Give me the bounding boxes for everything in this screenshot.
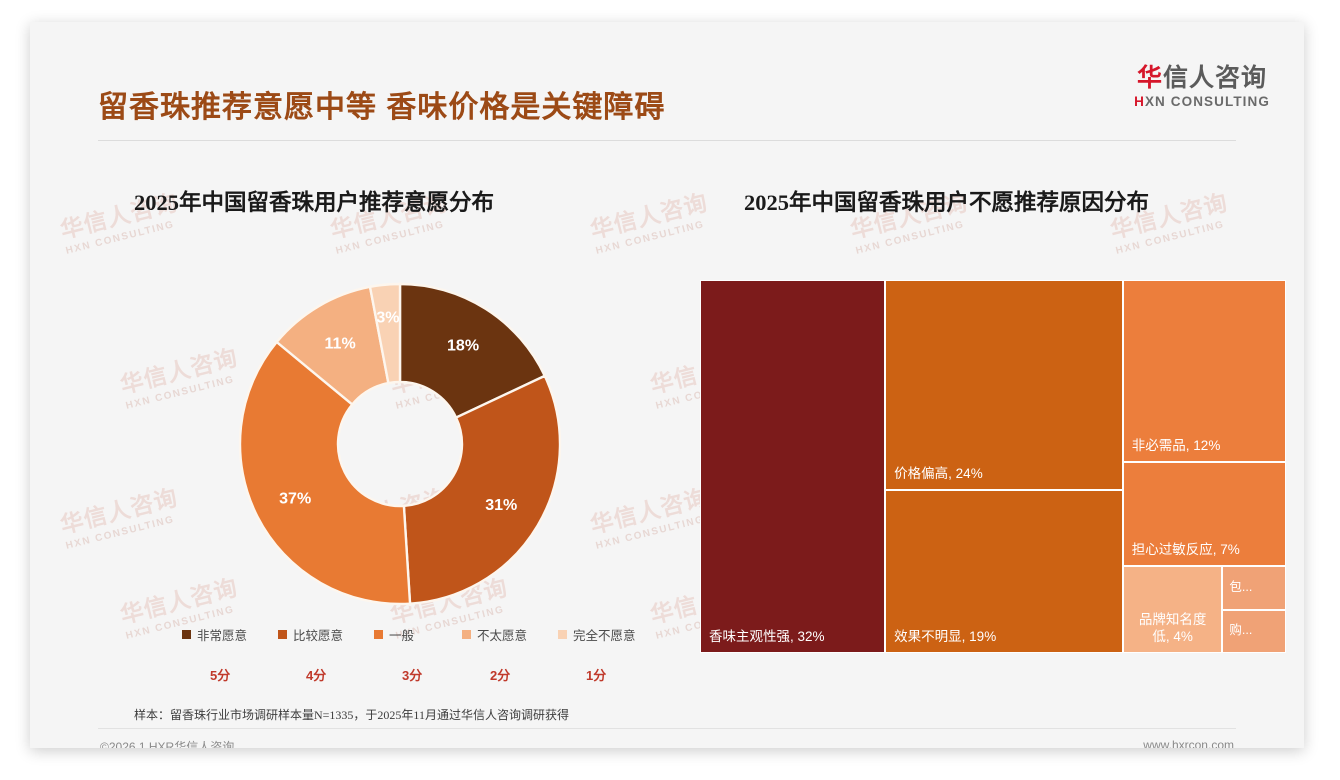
legend-item-3[interactable]: 不太愿意 [462, 624, 558, 644]
legend-swatch [278, 630, 287, 639]
logo-chinese: 华信人咨询 [1134, 64, 1270, 92]
legend-item-0[interactable]: 非常愿意 [182, 624, 278, 644]
score-label-3: 2分 [462, 665, 558, 685]
legend-swatch [182, 630, 191, 639]
reasons-treemap-chart: 香味主观性强, 32%价格偏高, 24%效果不明显, 19%非必需品, 12%担… [700, 280, 1286, 653]
legend-swatch [558, 630, 567, 639]
watermark-tile: 华信人咨询HXN CONSULTING [586, 478, 714, 552]
donut-svg: 18%31%37%11%3% [230, 274, 570, 614]
legend-swatch [374, 630, 383, 639]
logo-en-red: H [1134, 94, 1145, 109]
legend-label: 非常愿意 [197, 625, 247, 644]
watermark-tile: 华信人咨询HXN CONSULTING [586, 183, 714, 257]
treemap-cell-label: 价格偏高, 24% [894, 466, 1118, 483]
header-divider [98, 140, 1236, 141]
score-label-2: 3分 [374, 665, 462, 685]
footer-divider [98, 728, 1236, 729]
logo-cn-rest: 信人咨询 [1163, 64, 1267, 92]
treemap-cell[interactable]: 非必需品, 12% [1123, 280, 1286, 462]
recommendation-donut-chart: 18%31%37%11%3% [230, 274, 570, 614]
treemap-cell[interactable]: 价格偏高, 24% [885, 280, 1123, 490]
legend-item-2[interactable]: 一般 [374, 624, 462, 644]
page-title: 留香珠推荐意愿中等 香味价格是关键障碍 [98, 82, 665, 126]
slide-canvas: 华信人咨询HXN CONSULTING华信人咨询HXN CONSULTING华信… [30, 22, 1304, 748]
legend-label: 不太愿意 [477, 625, 527, 644]
treemap-cell-label: 购... [1229, 623, 1281, 639]
watermark-tile: 华信人咨询HXN CONSULTING [56, 478, 184, 552]
treemap-cell-label: 品牌知名度 低, 4% [1124, 612, 1222, 646]
sample-note: 样本：留香珠行业市场调研样本量N=1335，于2025年11月通过华信人咨询调研… [134, 706, 569, 723]
slide-header: 留香珠推荐意愿中等 香味价格是关键障碍 华信人咨询 HXN CONSULTING [30, 22, 1304, 140]
treemap-cell[interactable]: 包... [1222, 566, 1286, 609]
donut-slice[interactable] [404, 376, 560, 604]
donut-slice-label: 37% [279, 490, 311, 507]
donut-slice-label: 18% [447, 338, 479, 355]
legend-label: 一般 [389, 625, 414, 644]
right-chart-title: 2025年中国留香珠用户不愿推荐原因分布 [744, 185, 1149, 217]
logo-english: HXN CONSULTING [1134, 94, 1270, 109]
logo-en-rest: XN CONSULTING [1145, 94, 1270, 109]
legend-label: 完全不愿意 [573, 625, 636, 644]
treemap-cell[interactable]: 购... [1222, 610, 1286, 653]
logo-cn-red: 华 [1137, 64, 1163, 92]
copyright-text: ©2026.1 HXR华信人咨询 [100, 738, 234, 748]
treemap-cell-label: 非必需品, 12% [1132, 438, 1281, 455]
legend-item-1[interactable]: 比较愿意 [278, 624, 374, 644]
brand-logo: 华信人咨询 HXN CONSULTING [1134, 64, 1270, 109]
donut-slice-label: 11% [325, 336, 356, 353]
website-text: www.hxrcon.com [1143, 738, 1234, 748]
legend-swatch [462, 630, 471, 639]
donut-slice-label: 3% [376, 310, 399, 327]
treemap-cell[interactable]: 担心过敏反应, 7% [1123, 462, 1286, 566]
donut-score-row: 5分4分3分2分1分 [182, 665, 662, 685]
treemap-cell-label: 担心过敏反应, 7% [1132, 542, 1281, 559]
score-label-0: 5分 [182, 665, 278, 685]
left-chart-title: 2025年中国留香珠用户推荐意愿分布 [134, 185, 494, 217]
score-label-4: 1分 [558, 665, 662, 685]
treemap-cell[interactable]: 香味主观性强, 32% [700, 280, 885, 653]
legend-label: 比较愿意 [293, 625, 343, 644]
score-label-1: 4分 [278, 665, 374, 685]
treemap-cell[interactable]: 品牌知名度 低, 4% [1123, 566, 1223, 653]
treemap-cell-label: 包... [1229, 580, 1281, 596]
treemap-cell-label: 效果不明显, 19% [894, 629, 1118, 646]
watermark-tile: 华信人咨询HXN CONSULTING [116, 338, 244, 412]
treemap-cell[interactable]: 效果不明显, 19% [885, 490, 1123, 653]
legend-item-4[interactable]: 完全不愿意 [558, 624, 662, 644]
donut-slice-label: 31% [485, 497, 517, 514]
treemap-cell-label: 香味主观性强, 32% [709, 629, 880, 646]
donut-legend: 非常愿意比较愿意一般不太愿意完全不愿意 [182, 624, 662, 644]
